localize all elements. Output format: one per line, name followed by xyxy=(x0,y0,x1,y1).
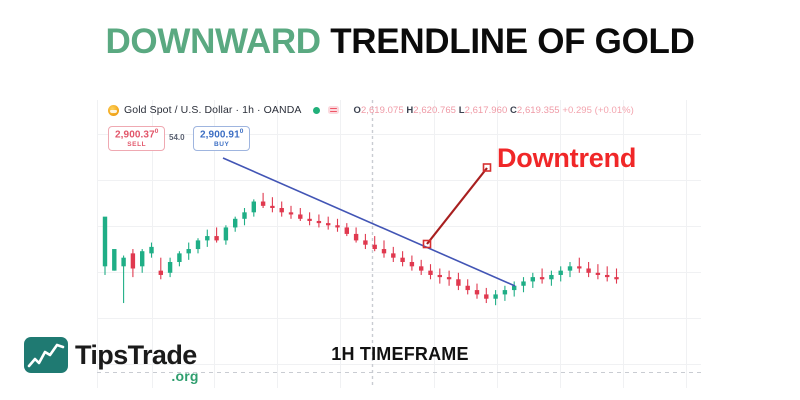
buy-quote-button[interactable]: 2,900.910 BUY xyxy=(193,126,250,151)
brand-name: TipsTrade .org xyxy=(75,342,197,369)
replay-badge-icon[interactable] xyxy=(328,106,339,114)
green-status-dot xyxy=(313,107,320,114)
brand-name-a: Tips xyxy=(75,340,128,370)
brand-logo[interactable]: TipsTrade .org xyxy=(24,337,197,373)
gold-coin-icon xyxy=(108,105,119,116)
buy-label: BUY xyxy=(200,142,243,149)
ohlc-l-value: 2,617.960 xyxy=(465,105,508,116)
sell-price: 2,900.370 xyxy=(115,129,158,141)
buy-price-sup: 0 xyxy=(240,128,244,135)
ohlc-o-label: O xyxy=(354,105,361,116)
ohlc-readout: O2,619.075 H2,620.765 L2,617.960 C2,619.… xyxy=(354,105,634,116)
brand-name-b: Trade xyxy=(128,340,197,370)
page-title-rest: TRENDLINE OF GOLD xyxy=(330,22,694,61)
buy-price: 2,900.910 xyxy=(200,129,243,141)
spread-value: 54.0 xyxy=(169,133,185,142)
ohlc-o-value: 2,619.075 xyxy=(361,105,404,116)
sell-price-sup: 0 xyxy=(155,128,159,135)
chart-header: Gold Spot / U.S. Dollar · 1h · OANDA O2,… xyxy=(108,104,634,116)
ohlc-change: +0.295 (+0.01%) xyxy=(562,105,634,116)
symbol-label[interactable]: Gold Spot / U.S. Dollar · 1h · OANDA xyxy=(124,104,302,116)
screenshot-root: DOWNWARD TRENDLINE OF GOLD xyxy=(0,0,800,400)
ohlc-c-value: 2,619.355 xyxy=(517,105,560,116)
sell-quote-button[interactable]: 2,900.370 SELL xyxy=(108,126,165,151)
tipstrade-chart-mark xyxy=(24,337,68,373)
brand-tld: .org xyxy=(171,369,198,383)
ohlc-c-label: C xyxy=(510,105,517,116)
ohlc-h-value: 2,620.765 xyxy=(413,105,456,116)
sell-label: SELL xyxy=(115,142,158,149)
downtrend-label: Downtrend xyxy=(497,143,636,174)
page-title-highlight: DOWNWARD xyxy=(105,22,320,61)
page-title: DOWNWARD TRENDLINE OF GOLD xyxy=(0,22,800,62)
